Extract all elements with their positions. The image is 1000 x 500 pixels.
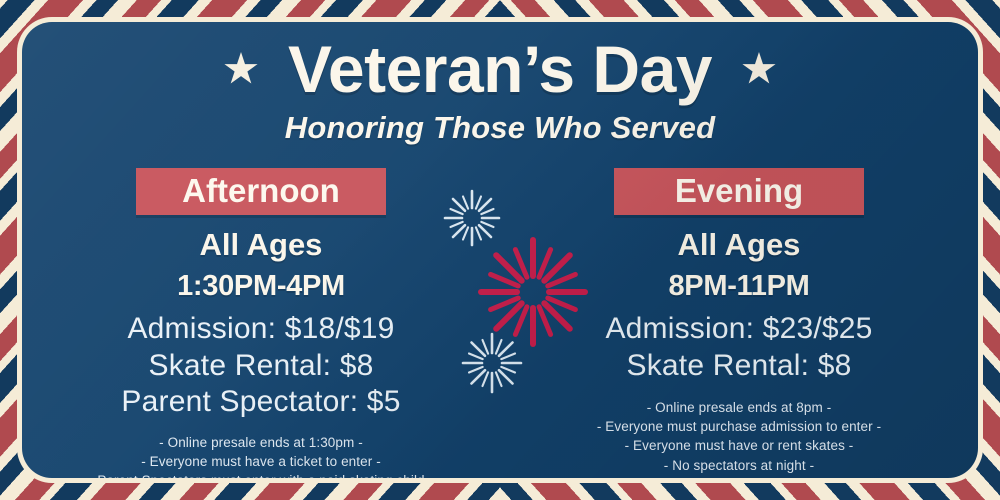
session-column-afternoon: Afternoon All Ages 1:30PM-4PM Admission:…: [22, 168, 500, 478]
session-prices-afternoon: Admission: $18/$19 Skate Rental: $8 Pare…: [32, 311, 490, 421]
session-column-evening: Evening All Ages 8PM-11PM Admission: $23…: [500, 168, 978, 478]
veterans-day-poster: Veteran’s Day Honoring Those Who Served: [0, 0, 1000, 500]
star-icon-right: [742, 52, 776, 86]
note-line: - Online presale ends at 8pm -: [510, 398, 968, 417]
note-line: - No spectators at night -: [510, 456, 968, 475]
session-ages-afternoon: All Ages: [32, 227, 490, 263]
note-line: - In person tickets cannot be purchased …: [510, 475, 968, 478]
price-line: Admission: $23/$25: [510, 311, 968, 348]
page-subtitle: Honoring Those Who Served: [22, 112, 978, 143]
price-line: Admission: $18/$19: [32, 311, 490, 348]
note-line: - Parent Spectators must enter with a pa…: [32, 471, 490, 478]
page-title: Veteran’s Day: [288, 36, 712, 102]
session-ages-evening: All Ages: [510, 227, 968, 263]
session-time-evening: 8PM-11PM: [510, 270, 968, 303]
note-line: - Everyone must have or rent skates -: [510, 436, 968, 455]
price-line: Skate Rental: $8: [32, 348, 490, 385]
sessions-container: Afternoon All Ages 1:30PM-4PM Admission:…: [22, 168, 978, 478]
title-row: Veteran’s Day: [22, 36, 978, 102]
poster-header: Veteran’s Day Honoring Those Who Served: [22, 36, 978, 143]
session-prices-evening: Admission: $23/$25 Skate Rental: $8: [510, 311, 968, 384]
session-badge-evening: Evening: [614, 168, 864, 215]
session-notes-evening: - Online presale ends at 8pm - - Everyon…: [510, 398, 968, 478]
star-icon-left: [224, 52, 258, 86]
session-badge-afternoon: Afternoon: [136, 168, 386, 215]
content-panel: Veteran’s Day Honoring Those Who Served: [22, 22, 978, 478]
price-line: Parent Spectator: $5: [32, 384, 490, 421]
note-line: - Everyone must have a ticket to enter -: [32, 452, 490, 471]
note-line: - Online presale ends at 1:30pm -: [32, 433, 490, 452]
session-time-afternoon: 1:30PM-4PM: [32, 270, 490, 303]
price-line: Skate Rental: $8: [510, 348, 968, 385]
note-line: - Everyone must purchase admission to en…: [510, 417, 968, 436]
session-notes-afternoon: - Online presale ends at 1:30pm - - Ever…: [32, 433, 490, 478]
